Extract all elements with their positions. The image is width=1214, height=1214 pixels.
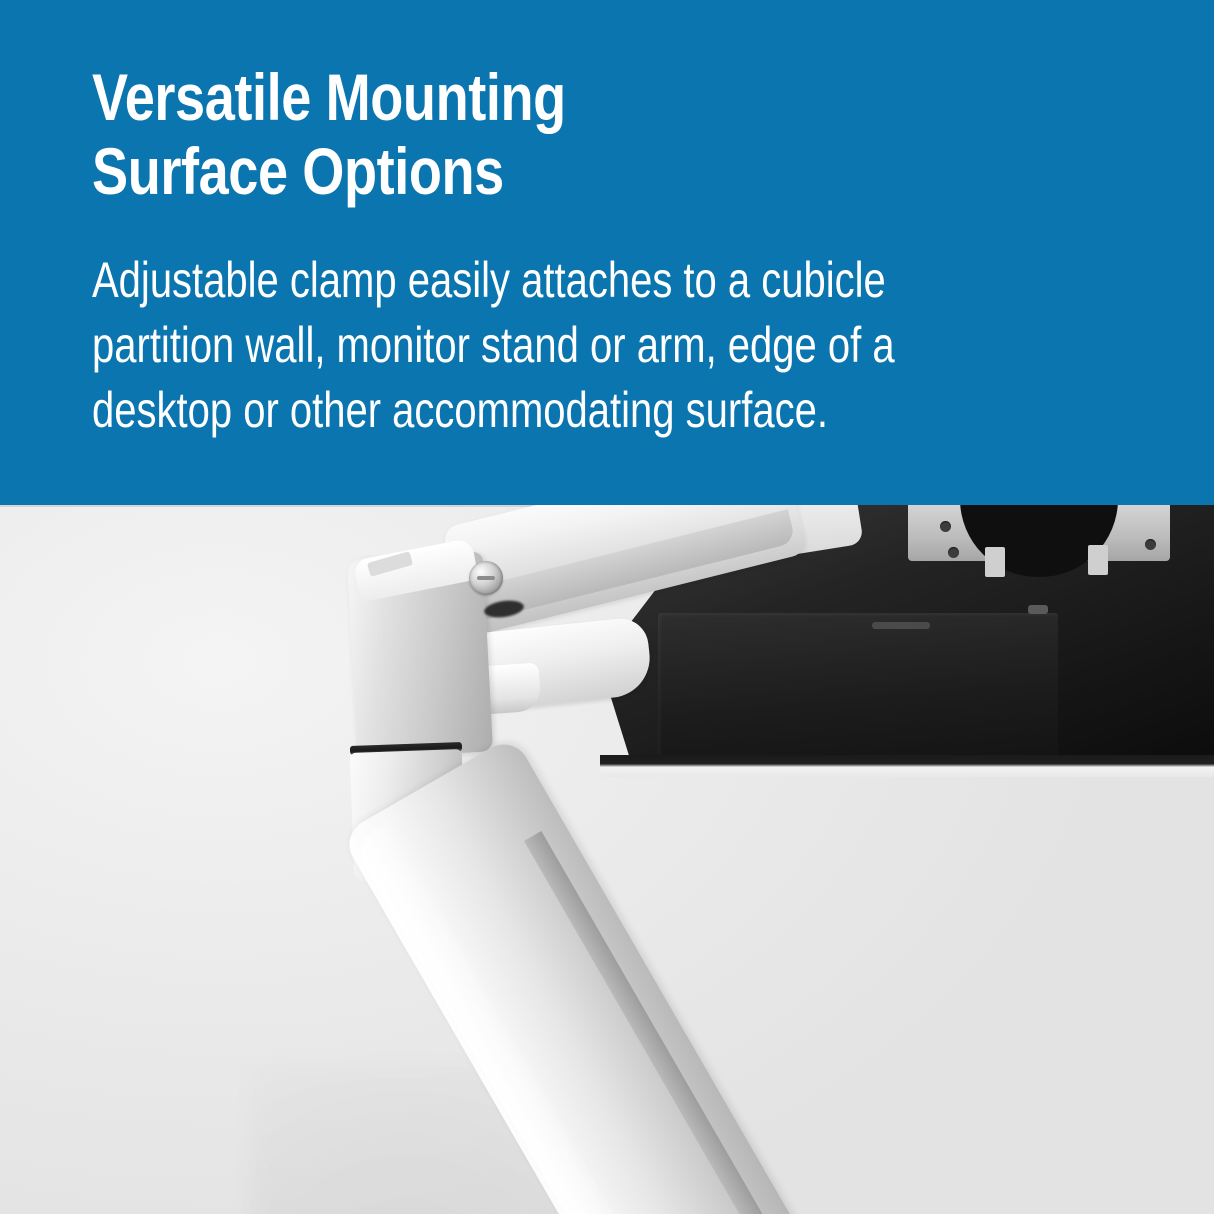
monitor-rear-slot-secondary [1028, 605, 1048, 614]
vesa-screw-hole [948, 547, 959, 558]
monitor-bottom-edge [600, 755, 1214, 777]
vesa-screw-hole [1145, 539, 1156, 550]
headline-line-1: Versatile Mounting [92, 60, 961, 134]
page-title: Versatile Mounting Surface Options [92, 60, 961, 208]
page-subtitle: Adjustable clamp easily attaches to a cu… [92, 248, 1116, 443]
headline-banner: Versatile Mounting Surface Options Adjus… [0, 0, 1214, 505]
subcopy-line-2: partition wall, monitor stand or arm, ed… [92, 313, 1116, 378]
monitor-rear-slot [872, 622, 930, 629]
vesa-screw-hole [940, 521, 951, 532]
product-feature-image: Versatile Mounting Surface Options Adjus… [0, 0, 1214, 1214]
subcopy-line-1: Adjustable clamp easily attaches to a cu… [92, 248, 1116, 313]
vesa-tab-right [1088, 545, 1108, 575]
headline-line-2: Surface Options [92, 134, 961, 208]
vesa-tab-left [985, 547, 1005, 577]
product-photograph: Kensington Kensington LAN SS DP DP [0, 505, 1214, 1214]
subcopy-line-3: desktop or other accommodating surface. [92, 378, 1116, 443]
monitor-rear-recess [658, 613, 1058, 758]
pivot-screw-icon [469, 561, 503, 595]
